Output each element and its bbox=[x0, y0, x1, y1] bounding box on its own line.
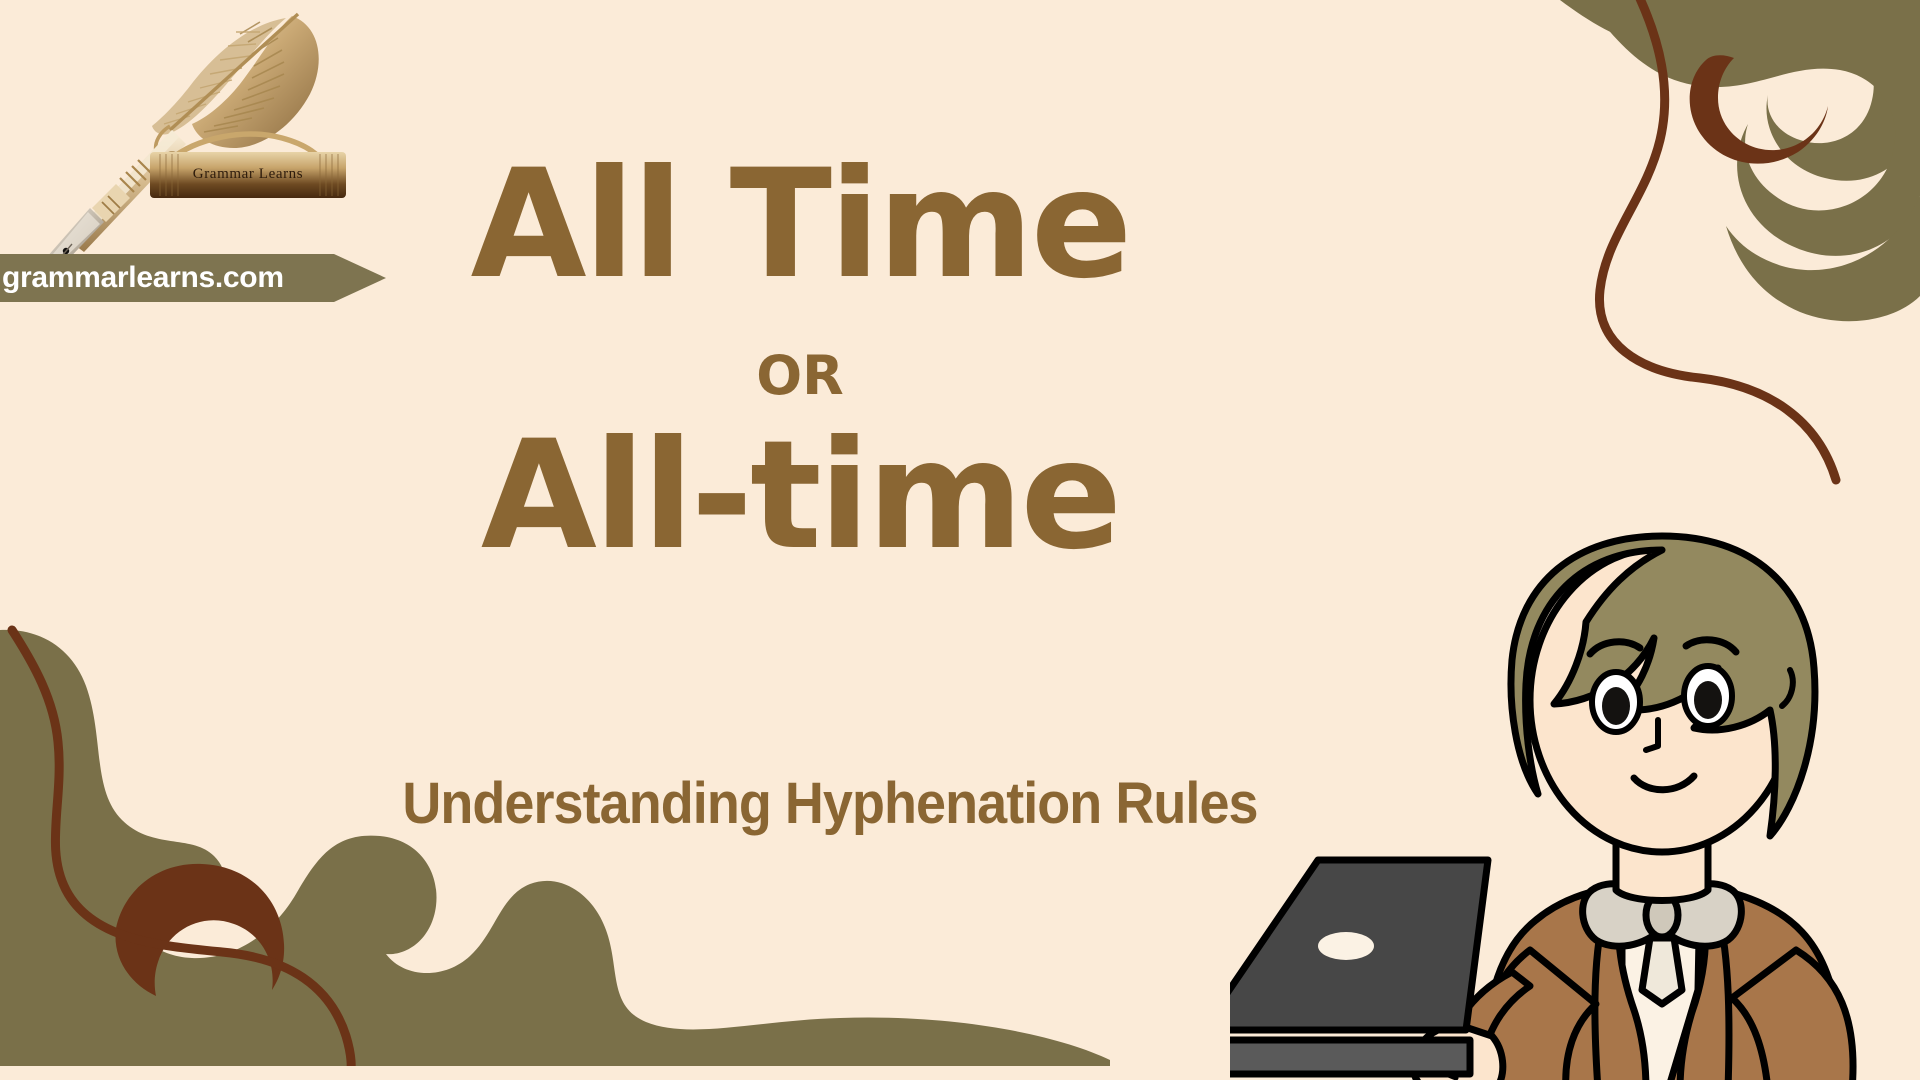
quill-engraving-text: Grammar Learns bbox=[193, 166, 303, 182]
headline-block: All Time OR All-time bbox=[300, 150, 1300, 571]
laptop-logo bbox=[1318, 932, 1374, 960]
site-url-text: grammarlearns.com bbox=[2, 252, 284, 304]
person-head bbox=[1511, 536, 1815, 852]
person-typing-illustration bbox=[1230, 390, 1920, 1080]
feather-vane bbox=[152, 14, 319, 148]
poster-canvas: Grammar Learns grammarlearns.com All Tim… bbox=[0, 0, 1920, 1080]
page-title-alternate: All-time bbox=[300, 421, 1300, 571]
title-separator: OR bbox=[300, 344, 1300, 407]
page-subtitle: Understanding Hyphenation Rules bbox=[337, 770, 1323, 837]
page-title-primary: All Time bbox=[300, 150, 1300, 300]
laptop bbox=[1230, 860, 1488, 1074]
